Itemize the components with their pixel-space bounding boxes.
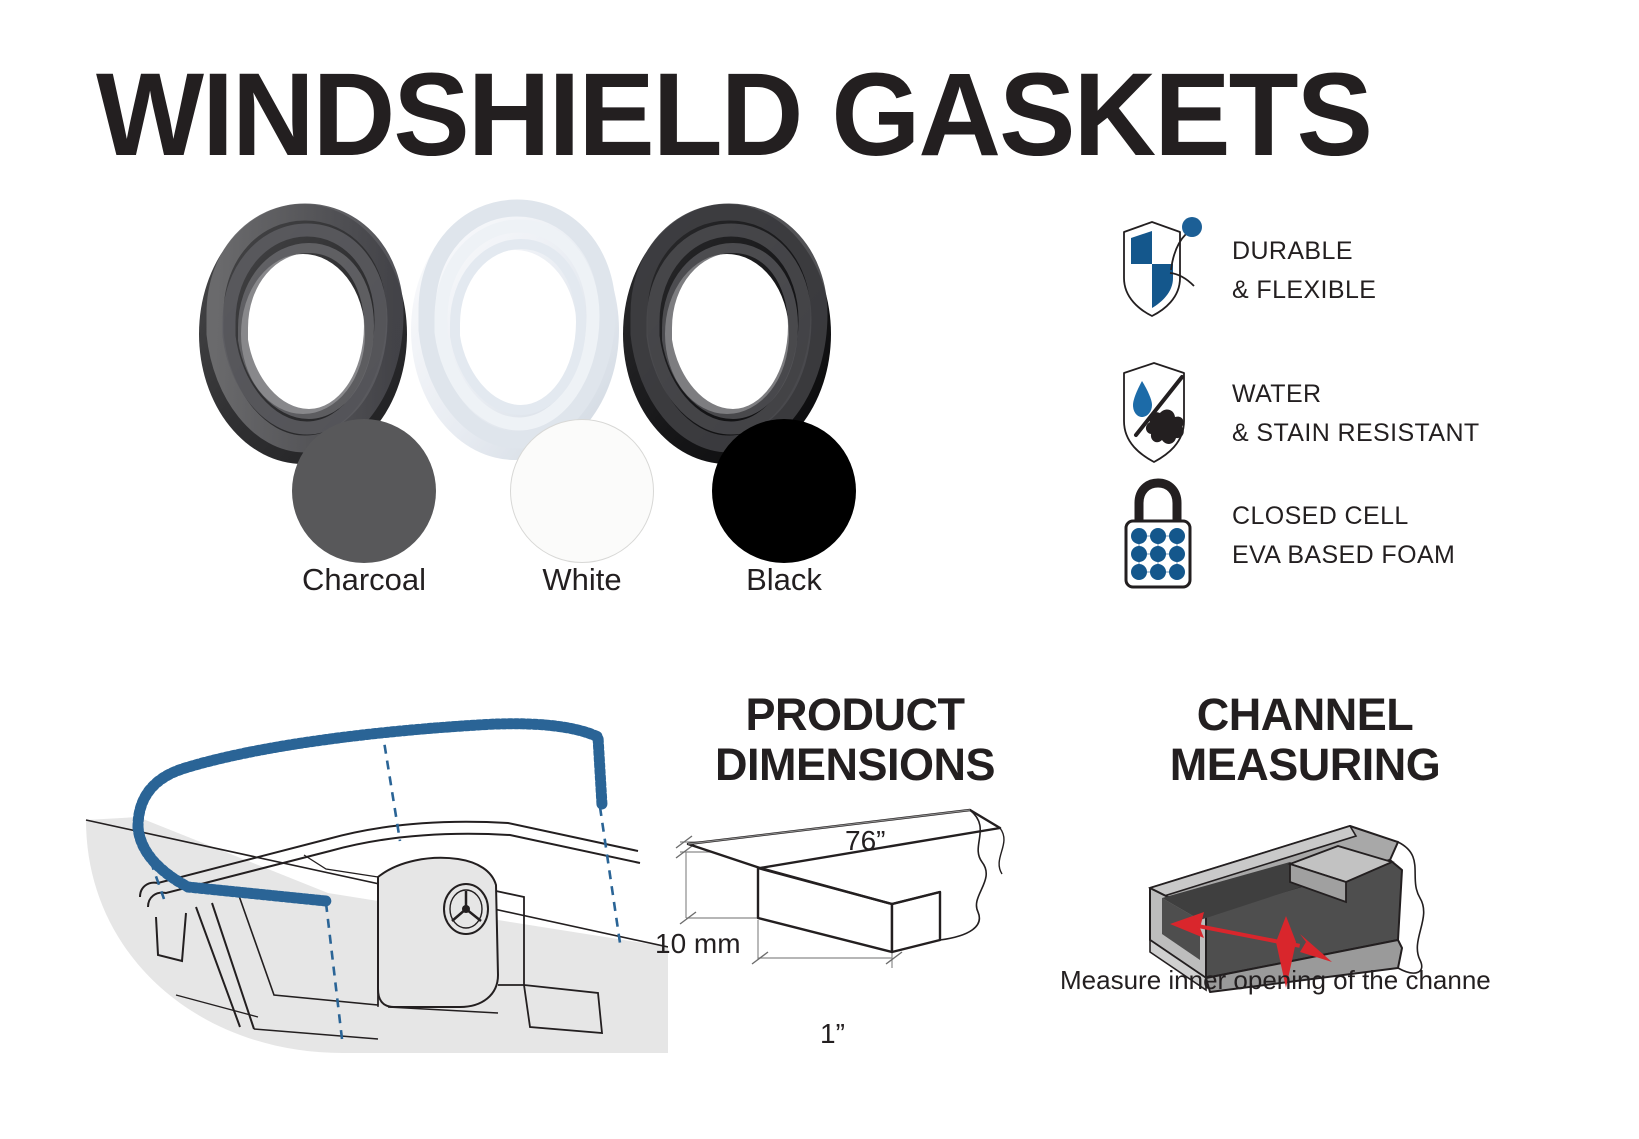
section-heading-dimensions: PRODUCT DIMENSIONS: [655, 690, 1055, 791]
channel-measuring-caption: Measure inner opening of the channe: [1060, 965, 1620, 996]
color-label-black: Black: [674, 562, 894, 598]
feature-label-durable: DURABLE & FLEXIBLE: [1232, 232, 1376, 310]
feature-line-2: & STAIN RESISTANT: [1232, 414, 1480, 453]
heading-line-2: MEASURING: [1105, 740, 1505, 790]
feature-closed-cell-foam: CLOSED CELL EVA BASED FOAM: [1112, 477, 1455, 595]
feature-line-2: & FLEXIBLE: [1232, 271, 1376, 310]
feature-line-1: DURABLE: [1232, 232, 1376, 271]
color-swatch-white[interactable]: [510, 419, 654, 563]
boat-windshield-gasket-diagram: [78, 655, 668, 1055]
feature-water-stain-resistant: WATER & STAIN RESISTANT: [1112, 355, 1480, 473]
heading-line-1: CHANNEL: [1105, 690, 1505, 740]
padlock-closed-cell-icon: [1112, 477, 1208, 595]
heading-line-1: PRODUCT: [655, 690, 1055, 740]
dimension-label-length: 76”: [845, 825, 885, 857]
page-title: WINDSHIELD GASKETS: [96, 56, 1473, 174]
feature-line-2: EVA BASED FOAM: [1232, 536, 1455, 575]
feature-line-1: CLOSED CELL: [1232, 497, 1455, 536]
feature-label-closed-cell: CLOSED CELL EVA BASED FOAM: [1232, 497, 1455, 575]
dimension-label-width: 1”: [820, 1018, 845, 1050]
heading-line-2: DIMENSIONS: [655, 740, 1055, 790]
color-swatch-black[interactable]: [712, 419, 856, 563]
shield-water-stain-icon: [1112, 355, 1208, 473]
infographic-page: WINDSHIELD GASKETS: [0, 0, 1639, 1139]
section-heading-channel: CHANNEL MEASURING: [1105, 690, 1505, 791]
color-swatch-charcoal[interactable]: [292, 419, 436, 563]
feature-line-1: WATER: [1232, 375, 1480, 414]
shield-bouncing-ball-icon: [1112, 212, 1208, 330]
feature-label-water: WATER & STAIN RESISTANT: [1232, 375, 1480, 453]
dimension-label-height: 10 mm: [655, 928, 741, 960]
color-label-charcoal: Charcoal: [254, 562, 474, 598]
feature-durable-flexible: DURABLE & FLEXIBLE: [1112, 212, 1376, 330]
color-label-white: White: [472, 562, 692, 598]
